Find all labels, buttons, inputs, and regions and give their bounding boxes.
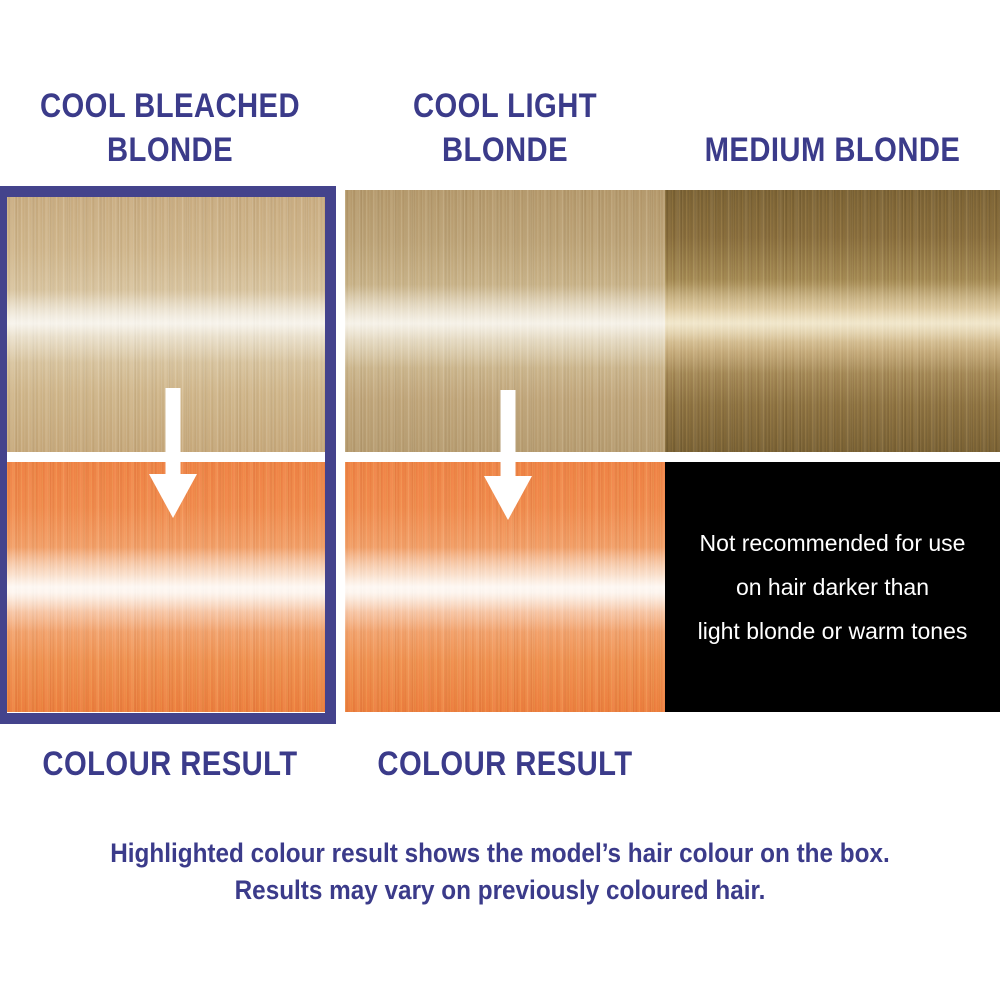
column-title-cool-bleached-blonde: COOL BLEACHED BLONDE bbox=[24, 84, 316, 172]
result-label-cool-light-blonde: COLOUR RESULT bbox=[367, 744, 642, 784]
not-recommended-warning-panel: Not recommended for use on hair darker t… bbox=[665, 462, 1000, 712]
down-arrow-icon-cool-light-blonde bbox=[483, 390, 533, 526]
hair-shine-band bbox=[665, 190, 1000, 452]
colour-result-chart: COOL BLEACHED BLONDE COOL LIGHT BLONDE M… bbox=[0, 0, 1000, 1000]
starting-shade-swatch-medium-blonde bbox=[665, 190, 1000, 452]
footnote: Highlighted colour result shows the mode… bbox=[50, 835, 950, 909]
warning-line-3: light blonde or warm tones bbox=[698, 609, 968, 653]
result-label-cool-bleached-blonde: COLOUR RESULT bbox=[24, 744, 316, 784]
column-title-cool-light-blonde: COOL LIGHT BLONDE bbox=[367, 84, 642, 172]
footnote-line-2: Results may vary on previously coloured … bbox=[50, 872, 950, 909]
down-arrow-icon-cool-bleached-blonde bbox=[148, 388, 198, 524]
warning-line-1: Not recommended for use bbox=[700, 521, 966, 565]
warning-line-2: on hair darker than bbox=[736, 565, 929, 609]
footnote-line-1: Highlighted colour result shows the mode… bbox=[50, 835, 950, 872]
hair-texture bbox=[665, 190, 1000, 452]
column-title-medium-blonde: MEDIUM BLONDE bbox=[688, 128, 976, 172]
